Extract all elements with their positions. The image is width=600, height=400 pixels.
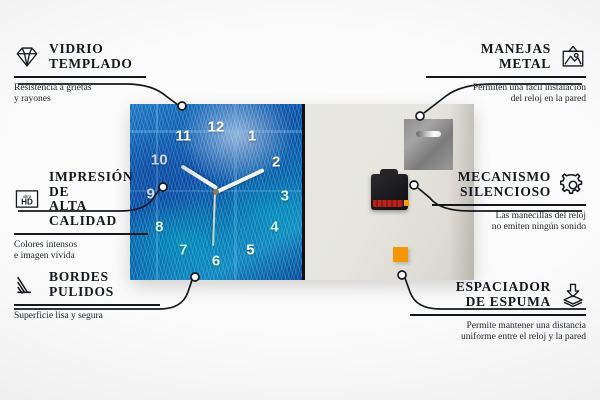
second-hand (213, 191, 216, 246)
callout-impresion-alta-calidad[interactable]: ultra HD IMPRESIÓN DE ALTA CALIDAD Color… (14, 170, 148, 263)
callout-title: ESPACIADOR DE ESPUMA (456, 280, 551, 309)
numeral-3: 3 (281, 187, 289, 204)
battery-terminal (404, 200, 409, 206)
hour-hand (180, 164, 218, 190)
clock-mechanism-box (371, 174, 408, 210)
callout-espaciador-espuma[interactable]: ESPACIADOR DE ESPUMA Permite mantener un… (410, 280, 586, 344)
callout-title: MECANISMO SILENCIOSO (458, 170, 551, 199)
callout-title: VIDRIO TEMPLADO (49, 42, 133, 71)
metal-hanger-plate (404, 119, 453, 170)
callout-desc: Permite mantener una distancia uniforme … (410, 321, 586, 344)
polished-edges-icon (14, 272, 40, 298)
mechanism-tab (380, 169, 398, 176)
callout-title: MANEJAS METAL (481, 42, 551, 71)
callout-desc: Resistencia a grietas y rayones (14, 83, 146, 106)
callout-rule (432, 204, 586, 206)
numeral-1: 1 (248, 127, 256, 144)
callout-vidrio-templado[interactable]: VIDRIO TEMPLADO Resistencia a grietas y … (14, 42, 146, 106)
infographic-canvas: 12 1 2 3 4 5 6 7 8 9 10 11 (0, 0, 600, 400)
hanger-slot (416, 131, 441, 137)
callout-bordes-pulidos[interactable]: BORDES PULIDOS Superficie lisa y segura (14, 270, 160, 322)
numeral-8: 8 (155, 219, 163, 236)
picture-hanger-icon (560, 44, 586, 70)
ultra-hd-icon: ultra HD (14, 186, 40, 212)
clock-center-pin (213, 189, 219, 195)
callout-desc: Las manecillas del reloj no emiten ningú… (432, 211, 586, 234)
callout-rule (14, 233, 148, 235)
diamond-icon (14, 44, 40, 70)
callout-manejas-metal[interactable]: MANEJAS METAL Permiten una fácil instala… (426, 42, 586, 106)
numeral-2: 2 (272, 154, 280, 171)
numeral-6: 6 (212, 252, 220, 269)
clock-front-panel: 12 1 2 3 4 5 6 7 8 9 10 11 (130, 104, 305, 280)
callout-rule (410, 314, 586, 316)
callout-title: BORDES PULIDOS (49, 270, 114, 299)
foam-spacer (393, 247, 408, 262)
numeral-7: 7 (179, 242, 187, 259)
numeral-10: 10 (151, 152, 168, 169)
foam-spacer-icon (560, 282, 586, 308)
gear-icon (560, 172, 586, 198)
callout-rule (14, 304, 160, 306)
callout-rule (426, 76, 586, 78)
callout-rule (14, 76, 146, 78)
callout-mecanismo-silencioso[interactable]: MECANISMO SILENCIOSO Las manecillas del … (432, 170, 586, 234)
product-photo: 12 1 2 3 4 5 6 7 8 9 10 11 (130, 104, 474, 280)
clock-numerals: 12 1 2 3 4 5 6 7 8 9 10 11 (130, 104, 302, 280)
callout-title: IMPRESIÓN DE ALTA CALIDAD (49, 170, 148, 228)
minute-hand (216, 168, 265, 194)
ultra-hd-icon-bottom: HD (21, 198, 33, 207)
battery (373, 200, 403, 207)
numeral-4: 4 (270, 219, 278, 236)
callout-desc: Permiten una fácil instalación del reloj… (426, 83, 586, 106)
numeral-11: 11 (175, 127, 191, 144)
numeral-12: 12 (208, 118, 225, 135)
callout-desc: Colores intensos e imagen vívida (14, 240, 148, 263)
callout-desc: Superficie lisa y segura (14, 311, 160, 323)
numeral-5: 5 (246, 242, 254, 259)
